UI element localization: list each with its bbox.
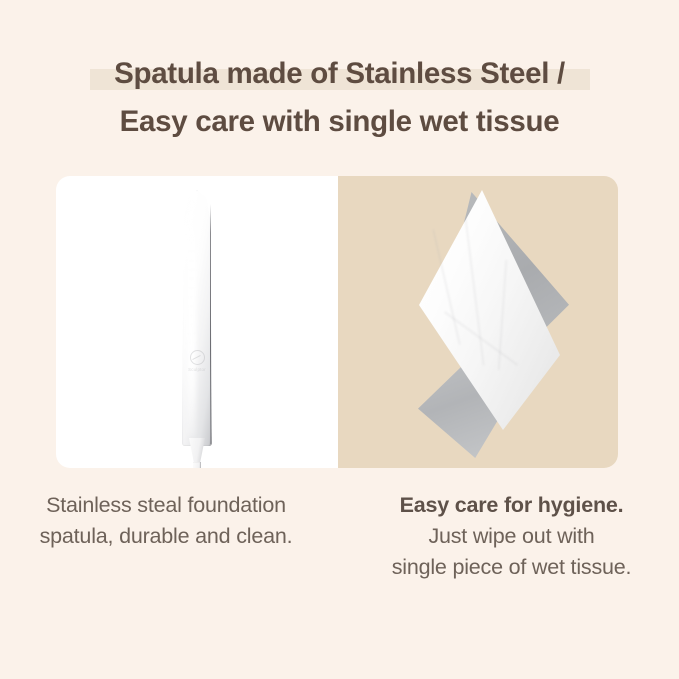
brand-logo-icon: Sculptor bbox=[184, 350, 210, 372]
caption-right: Easy care for hygiene. Just wipe out wit… bbox=[340, 490, 679, 583]
heading-line-1-text: Spatula made of Stainless Steel / bbox=[112, 52, 567, 96]
heading-line-2-text: Easy care with single wet tissue bbox=[118, 100, 562, 144]
caption-right-line-3: single piece of wet tissue. bbox=[344, 552, 679, 583]
caption-group: Stainless steal foundation spatula, dura… bbox=[0, 490, 679, 583]
caption-right-line-1: Easy care for hygiene. bbox=[344, 490, 679, 521]
panel-tissue bbox=[338, 176, 618, 468]
heading-line-2: Easy care with single wet tissue bbox=[0, 100, 679, 144]
spatula-icon: Sculptor bbox=[167, 190, 227, 468]
logo-wordmark: Sculptor bbox=[184, 367, 210, 372]
product-feature-page: Spatula made of Stainless Steel / Easy c… bbox=[0, 0, 679, 679]
wet-tissue-icon bbox=[416, 188, 596, 458]
logo-circle-icon bbox=[190, 350, 205, 365]
spatula-handle bbox=[193, 462, 201, 468]
heading-block: Spatula made of Stainless Steel / Easy c… bbox=[0, 52, 679, 144]
spatula-blade-edge bbox=[210, 204, 211, 444]
panel-spatula: Sculptor bbox=[56, 176, 338, 468]
caption-left-line-1: Stainless steal foundation bbox=[0, 490, 332, 521]
caption-right-line-2: Just wipe out with bbox=[344, 521, 679, 552]
spatula-blade-sheen bbox=[187, 198, 196, 436]
image-panel-group: Sculptor bbox=[56, 176, 618, 468]
caption-left-line-2: spatula, durable and clean. bbox=[0, 521, 332, 552]
heading-line-1: Spatula made of Stainless Steel / bbox=[0, 52, 679, 96]
spatula-neck bbox=[189, 438, 205, 464]
caption-left: Stainless steal foundation spatula, dura… bbox=[0, 490, 340, 583]
